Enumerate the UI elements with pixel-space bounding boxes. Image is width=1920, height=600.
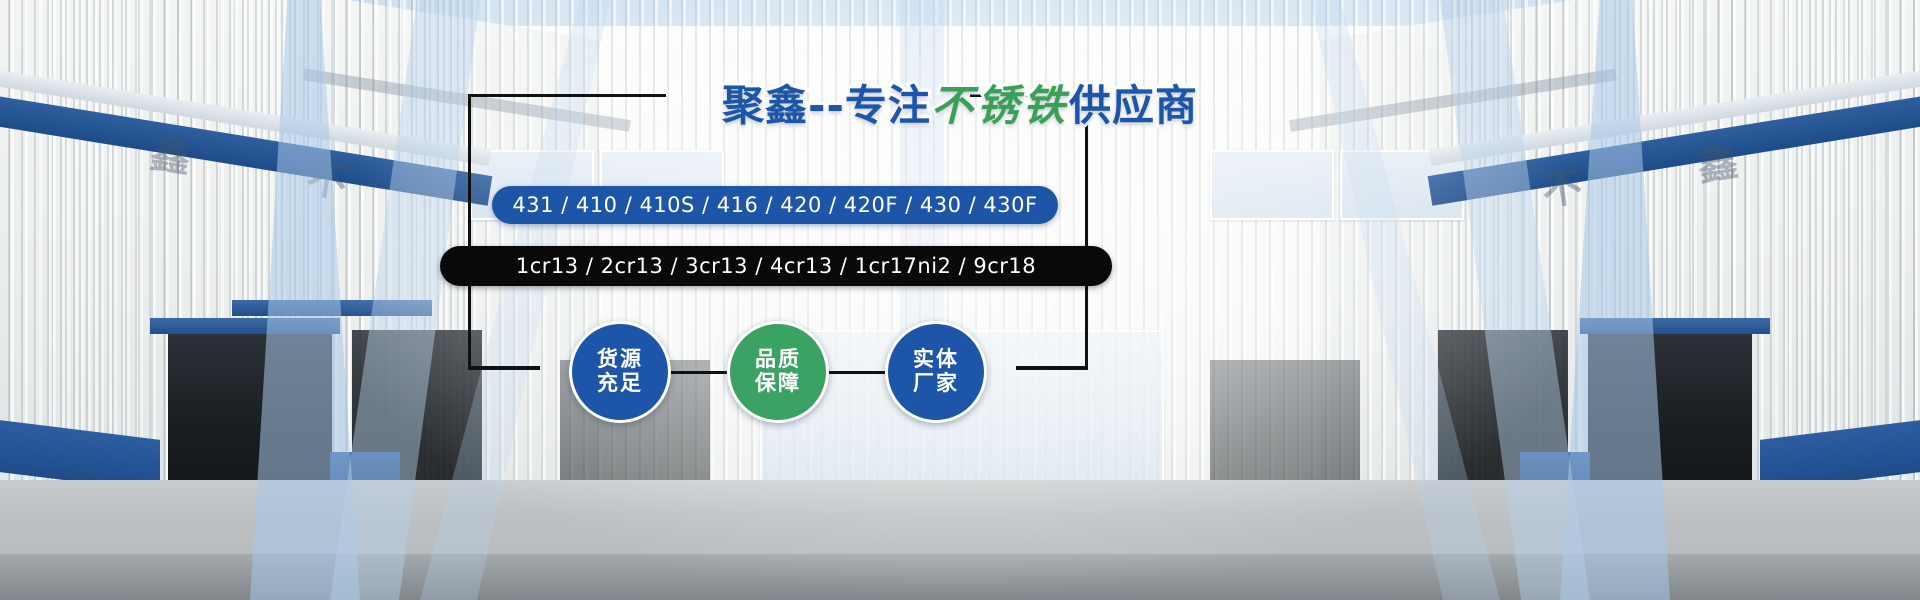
feature-circle-supply-line1: 货源 <box>597 348 643 372</box>
feature-circle-supply-line2: 充足 <box>597 372 643 396</box>
grade-bar-primary: 431 / 410 / 410S / 416 / 420 / 420F / 43… <box>492 186 1058 224</box>
feature-circle-factory: 实体 厂家 <box>885 321 987 423</box>
headline-part-suffix: 供应商 <box>1069 81 1198 130</box>
feature-circle-factory-line2: 厂家 <box>913 372 959 396</box>
headline-part-brand: 聚鑫--专注 <box>722 81 931 130</box>
promotional-banner: 鑫 不 不 鑫 <box>0 0 1920 600</box>
feature-circle-row: 货源 充足 品质 保障 实体 厂家 <box>468 312 1088 432</box>
feature-circle-supply: 货源 充足 <box>569 321 671 423</box>
banner-content: 聚鑫--专注不锈铁供应商 431 / 410 / 410S / 416 / 42… <box>0 0 1920 600</box>
feature-circle-quality-line2: 保障 <box>755 372 801 396</box>
connector-line-1 <box>671 371 727 374</box>
banner-headline: 聚鑫--专注不锈铁供应商 <box>0 72 1920 133</box>
feature-circle-quality: 品质 保障 <box>727 321 829 423</box>
feature-circle-quality-line1: 品质 <box>755 348 801 372</box>
grade-bar-secondary: 1cr13 / 2cr13 / 3cr13 / 4cr13 / 1cr17ni2… <box>440 246 1112 286</box>
connector-line-2 <box>829 371 885 374</box>
headline-part-highlight: 不锈铁 <box>931 81 1069 130</box>
feature-circle-factory-line1: 实体 <box>913 348 959 372</box>
